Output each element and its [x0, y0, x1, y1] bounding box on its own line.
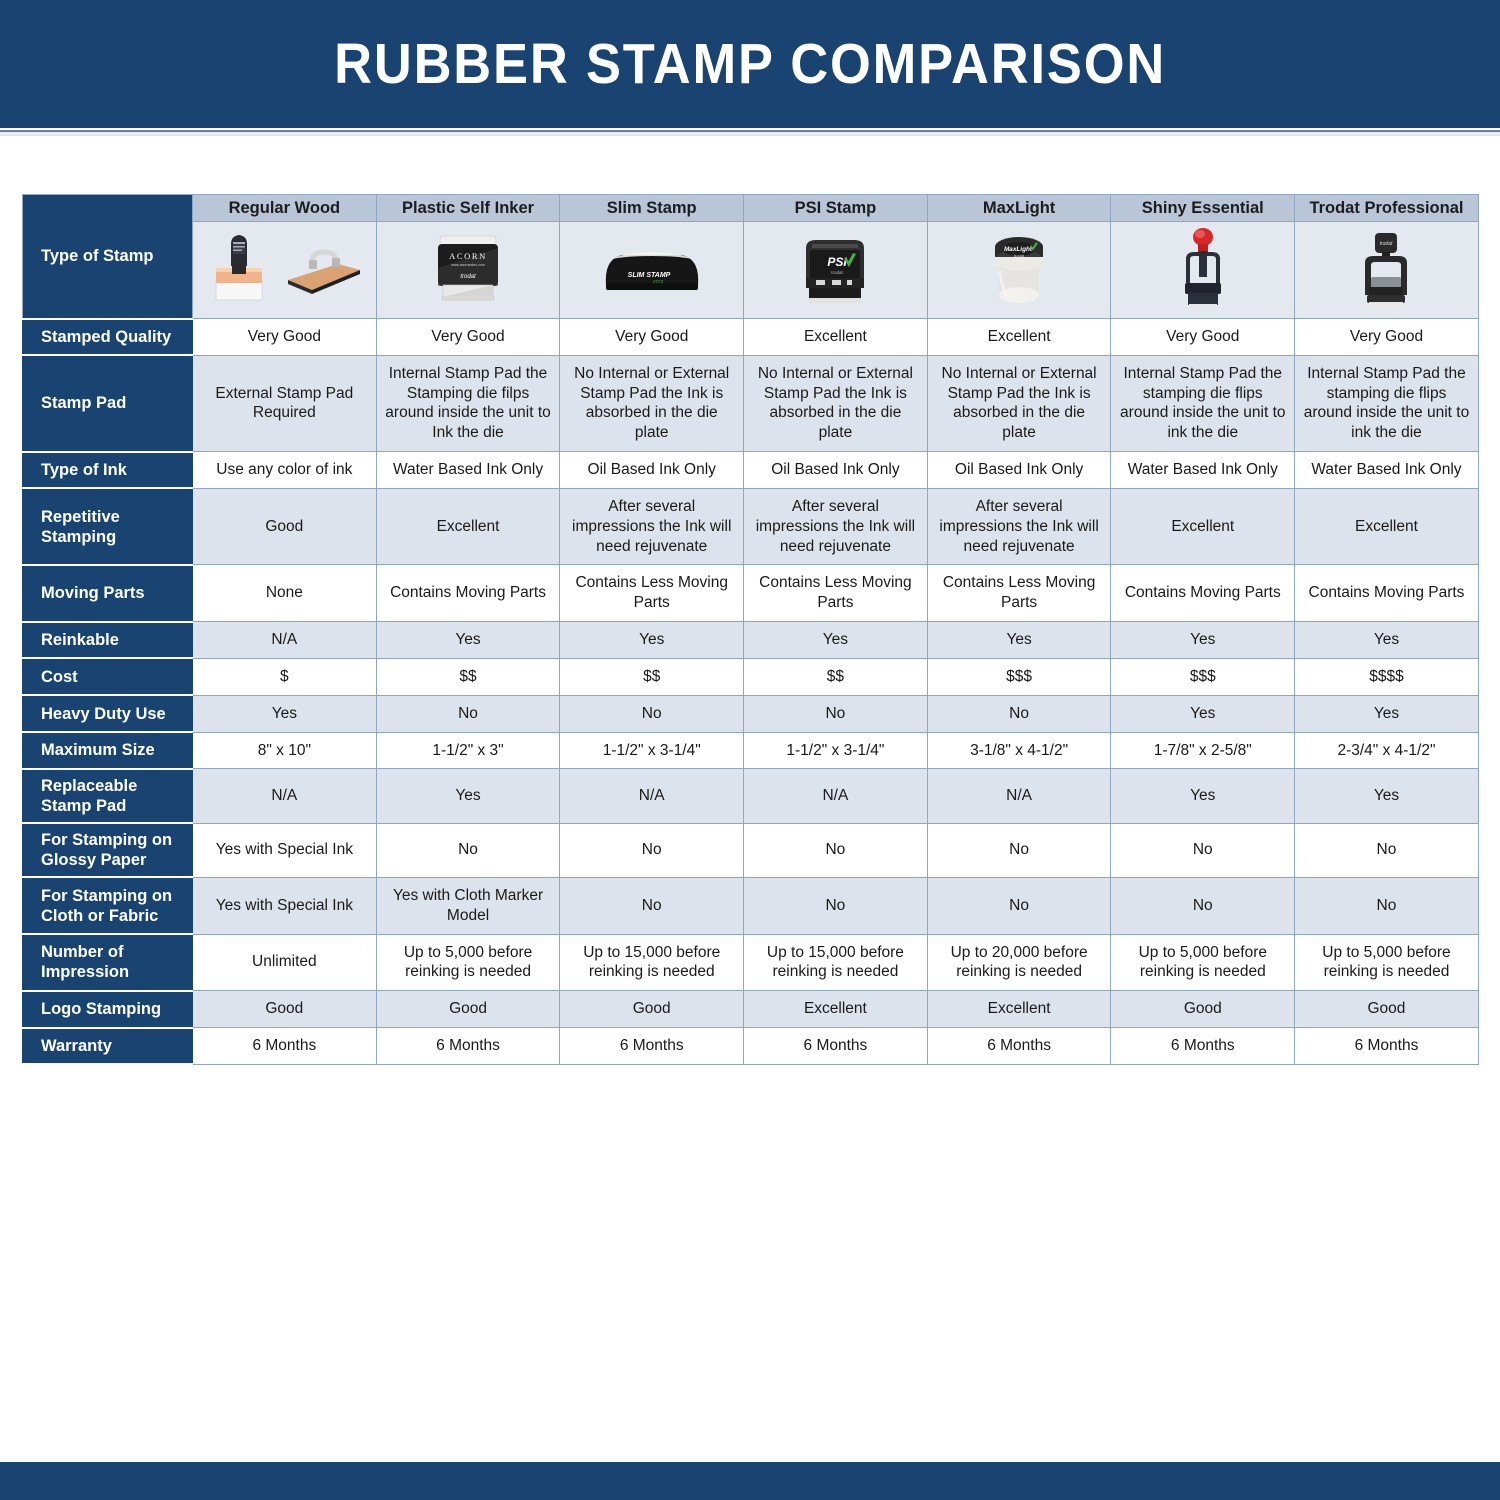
table-cell: Excellent	[376, 488, 560, 564]
row-label: Cost	[23, 658, 193, 695]
column-header-slim-stamp: Slim Stamp	[560, 195, 744, 222]
table-cell: No	[1111, 877, 1295, 934]
footer-divider	[0, 1455, 1500, 1462]
page-footer	[0, 1462, 1500, 1500]
table-row-glossy-paper: For Stamping on Glossy Paper Yes with Sp…	[23, 823, 1479, 877]
table-row-stamped-quality: Stamped Quality Very Good Very Good Very…	[23, 319, 1479, 356]
table-cell: 6 Months	[927, 1028, 1111, 1065]
svg-text:MaxLight: MaxLight	[1004, 246, 1033, 253]
table-cell: Oil Based Ink Only	[927, 452, 1111, 489]
table-row-reinkable: Reinkable N/A Yes Yes Yes Yes Yes Yes	[23, 622, 1479, 659]
table-cell: No	[560, 823, 744, 877]
table-cell: N/A	[193, 622, 377, 659]
table-row-cost: Cost $ $$ $$ $$ $$$ $$$ $$$$	[23, 658, 1479, 695]
table-cell: Good	[1295, 991, 1479, 1028]
table-cell: N/A	[744, 769, 928, 823]
table-cell: $$$	[927, 658, 1111, 695]
row-label: For Stamping on Glossy Paper	[23, 823, 193, 877]
table-cell: Internal Stamp Pad the stamping die flip…	[1295, 355, 1479, 451]
table-cell: Water Based Ink Only	[376, 452, 560, 489]
row-label: Heavy Duty Use	[23, 695, 193, 732]
table-cell: Yes	[376, 769, 560, 823]
table-cell: Good	[376, 991, 560, 1028]
product-image-maxlight: MaxLight trodat	[927, 222, 1111, 319]
table-cell: Yes	[1295, 769, 1479, 823]
table-cell: Up to 20,000 before reinking is needed	[927, 934, 1111, 991]
row-label: Stamped Quality	[23, 319, 193, 356]
table-cell: 6 Months	[376, 1028, 560, 1065]
svg-text:SLIM STAMP: SLIM STAMP	[627, 272, 670, 279]
table-cell: Yes	[376, 622, 560, 659]
table-cell: $	[193, 658, 377, 695]
table-cell: No	[376, 823, 560, 877]
maxlight-stamp-icon: MaxLight trodat	[979, 227, 1059, 313]
table-cell: Up to 15,000 before reinking is needed	[560, 934, 744, 991]
row-label: Stamp Pad	[23, 355, 193, 451]
table-cell: After several impressions the Ink will n…	[560, 488, 744, 564]
table-cell: Good	[193, 488, 377, 564]
column-header-regular-wood: Regular Wood	[193, 195, 377, 222]
svg-text:trodat: trodat	[1380, 241, 1393, 247]
table-row-heavy-duty-use: Heavy Duty Use Yes No No No No Yes Yes	[23, 695, 1479, 732]
table-cell: Good	[193, 991, 377, 1028]
column-header-psi-stamp: PSI Stamp	[744, 195, 928, 222]
trodat-professional-stamp-icon: trodat	[1355, 225, 1417, 315]
table-cell: Yes	[1295, 695, 1479, 732]
table-cell: Yes	[927, 622, 1111, 659]
table-cell: Very Good	[1295, 319, 1479, 356]
row-label: Moving Parts	[23, 565, 193, 622]
table-cell: Contains Less Moving Parts	[744, 565, 928, 622]
table-cell: Yes	[1111, 622, 1295, 659]
table-cell: 6 Months	[1111, 1028, 1295, 1065]
table-cell: 1-7/8" x 2-5/8"	[1111, 732, 1295, 769]
svg-text:ACORN: ACORN	[449, 251, 487, 261]
row-label: Number of Impression	[23, 934, 193, 991]
table-cell: Yes	[744, 622, 928, 659]
table-cell: N/A	[193, 769, 377, 823]
table-cell: 1-1/2" x 3"	[376, 732, 560, 769]
table-cell: Yes	[560, 622, 744, 659]
table-cell: Excellent	[927, 991, 1111, 1028]
table-cell: N/A	[927, 769, 1111, 823]
banner-divider	[0, 128, 1500, 136]
row-label: Reinkable	[23, 622, 193, 659]
table-cell: After several impressions the Ink will n…	[927, 488, 1111, 564]
table-cell: 6 Months	[560, 1028, 744, 1065]
table-cell: 1-1/2" x 3-1/4"	[560, 732, 744, 769]
table-cell: 6 Months	[744, 1028, 928, 1065]
table-cell: External Stamp Pad Required	[193, 355, 377, 451]
table-cell: No	[927, 695, 1111, 732]
product-image-slim-stamp: SLIM STAMP 2773	[560, 222, 744, 319]
table-cell: Excellent	[744, 991, 928, 1028]
row-label: Type of Ink	[23, 452, 193, 489]
row-header-type-of-stamp: Type of Stamp	[23, 195, 193, 319]
table-cell: No Internal or External Stamp Pad the In…	[560, 355, 744, 451]
table-cell: 8" x 10"	[193, 732, 377, 769]
table-cell: Excellent	[1295, 488, 1479, 564]
table-head: Type of Stamp Regular Wood Plastic Self …	[23, 195, 1479, 319]
table-row-cloth-or-fabric: For Stamping on Cloth or Fabric Yes with…	[23, 877, 1479, 934]
svg-text:2773: 2773	[652, 279, 664, 284]
table-cell: No	[560, 877, 744, 934]
table-row-logo-stamping: Logo Stamping Good Good Good Excellent E…	[23, 991, 1479, 1028]
table-cell: No	[927, 823, 1111, 877]
table-cell: Very Good	[193, 319, 377, 356]
table-cell: No Internal or External Stamp Pad the In…	[927, 355, 1111, 451]
product-image-regular-wood	[193, 222, 377, 319]
svg-text:www.acornsales.com: www.acornsales.com	[451, 263, 485, 267]
column-header-maxlight: MaxLight	[927, 195, 1111, 222]
table-cell: No	[1111, 823, 1295, 877]
row-label: For Stamping on Cloth or Fabric	[23, 877, 193, 934]
table-cell: Unlimited	[193, 934, 377, 991]
table-cell: Yes with Special Ink	[193, 877, 377, 934]
product-image-plastic-self-inker: ACORN www.acornsales.com trodat	[376, 222, 560, 319]
table-cell: Yes with Special Ink	[193, 823, 377, 877]
table-cell: Oil Based Ink Only	[744, 452, 928, 489]
column-header-row: Type of Stamp Regular Wood Plastic Self …	[23, 195, 1479, 222]
comparison-infographic: RUBBER STAMP COMPARISON Type of Stamp Re…	[0, 0, 1500, 1500]
table-cell: Good	[1111, 991, 1295, 1028]
table-cell: No	[1295, 823, 1479, 877]
shiny-essential-stamp-icon	[1176, 225, 1230, 315]
row-label: Warranty	[23, 1028, 193, 1065]
table-cell: Up to 15,000 before reinking is needed	[744, 934, 928, 991]
table-cell: Up to 5,000 before reinking is needed	[376, 934, 560, 991]
table-cell: No	[744, 823, 928, 877]
table-cell: No	[744, 695, 928, 732]
table-cell: Contains Less Moving Parts	[560, 565, 744, 622]
table-row-stamp-pad: Stamp Pad External Stamp Pad Required In…	[23, 355, 1479, 451]
table-cell: 6 Months	[193, 1028, 377, 1065]
table-cell: Yes with Cloth Marker Model	[376, 877, 560, 934]
table-cell: $$	[376, 658, 560, 695]
table-cell: After several impressions the Ink will n…	[744, 488, 928, 564]
table-cell: No Internal or External Stamp Pad the In…	[744, 355, 928, 451]
product-image-shiny-essential	[1111, 222, 1295, 319]
table-cell: Contains Moving Parts	[1295, 565, 1479, 622]
column-header-shiny-essential: Shiny Essential	[1111, 195, 1295, 222]
row-label: Repetitive Stamping	[23, 488, 193, 564]
table-cell: Contains Moving Parts	[376, 565, 560, 622]
product-image-trodat-professional: trodat	[1295, 222, 1479, 319]
table-cell: No	[927, 877, 1111, 934]
table-cell: None	[193, 565, 377, 622]
table-cell: Contains Less Moving Parts	[927, 565, 1111, 622]
svg-text:trodat: trodat	[832, 270, 844, 275]
table-cell: No	[744, 877, 928, 934]
table-cell: 1-1/2" x 3-1/4"	[744, 732, 928, 769]
table-row-warranty: Warranty 6 Months 6 Months 6 Months 6 Mo…	[23, 1028, 1479, 1065]
product-image-psi-stamp: PSI trodat	[744, 222, 928, 319]
table-cell: $$$	[1111, 658, 1295, 695]
table-cell: $$	[744, 658, 928, 695]
table-cell: $$$$	[1295, 658, 1479, 695]
table-cell: No	[376, 695, 560, 732]
row-label: Logo Stamping	[23, 991, 193, 1028]
table-row-replaceable-stamp-pad: Replaceable Stamp Pad N/A Yes N/A N/A N/…	[23, 769, 1479, 823]
table-cell: Excellent	[744, 319, 928, 356]
table-cell: Excellent	[927, 319, 1111, 356]
table-row-repetitive-stamping: Repetitive Stamping Good Excellent After…	[23, 488, 1479, 564]
table-cell: Up to 5,000 before reinking is needed	[1295, 934, 1479, 991]
column-header-plastic-self-inker: Plastic Self Inker	[376, 195, 560, 222]
table-cell: Use any color of ink	[193, 452, 377, 489]
table-cell: 6 Months	[1295, 1028, 1479, 1065]
row-label: Maximum Size	[23, 732, 193, 769]
psi-stamp-icon: PSI trodat	[792, 228, 878, 312]
svg-text:PSI: PSI	[828, 255, 848, 269]
table-cell: Water Based Ink Only	[1295, 452, 1479, 489]
table-cell: N/A	[560, 769, 744, 823]
slim-stamp-icon: SLIM STAMP 2773	[596, 243, 708, 297]
table-row-number-of-impression: Number of Impression Unlimited Up to 5,0…	[23, 934, 1479, 991]
table-cell: Yes	[1111, 769, 1295, 823]
table-cell: No	[560, 695, 744, 732]
table-row-type-of-ink: Type of Ink Use any color of ink Water B…	[23, 452, 1479, 489]
column-header-trodat-professional: Trodat Professional	[1295, 195, 1479, 222]
table-cell: Very Good	[376, 319, 560, 356]
table-cell: Very Good	[560, 319, 744, 356]
table-cell: Good	[560, 991, 744, 1028]
table-cell: Contains Moving Parts	[1111, 565, 1295, 622]
page-banner: RUBBER STAMP COMPARISON	[0, 0, 1500, 128]
table-cell: Yes	[1295, 622, 1479, 659]
table-cell: Excellent	[1111, 488, 1295, 564]
comparison-table-container: Type of Stamp Regular Wood Plastic Self …	[22, 194, 1478, 1065]
table-cell: Very Good	[1111, 319, 1295, 356]
table-row-maximum-size: Maximum Size 8" x 10" 1-1/2" x 3" 1-1/2"…	[23, 732, 1479, 769]
table-cell: No	[1295, 877, 1479, 934]
table-row-moving-parts: Moving Parts None Contains Moving Parts …	[23, 565, 1479, 622]
table-cell: Internal Stamp Pad the Stamping die filp…	[376, 355, 560, 451]
table-cell: Internal Stamp Pad the stamping die flip…	[1111, 355, 1295, 451]
wood-stamp-icon	[204, 230, 274, 310]
table-cell: Yes	[1111, 695, 1295, 732]
table-cell: Water Based Ink Only	[1111, 452, 1295, 489]
table-body: Stamped Quality Very Good Very Good Very…	[23, 319, 1479, 1065]
wood-handle-stamp-icon	[282, 240, 364, 300]
table-cell: $$	[560, 658, 744, 695]
plastic-self-inker-icon: ACORN www.acornsales.com trodat	[426, 228, 510, 312]
page-title: RUBBER STAMP COMPARISON	[334, 31, 1166, 97]
svg-text:trodat: trodat	[460, 274, 476, 280]
product-image-row: ACORN www.acornsales.com trodat	[23, 222, 1479, 319]
table-cell: Up to 5,000 before reinking is needed	[1111, 934, 1295, 991]
table-cell: 3-1/8" x 4-1/2"	[927, 732, 1111, 769]
table-cell: Oil Based Ink Only	[560, 452, 744, 489]
row-label: Replaceable Stamp Pad	[23, 769, 193, 823]
comparison-table: Type of Stamp Regular Wood Plastic Self …	[22, 194, 1479, 1065]
table-cell: 2-3/4" x 4-1/2"	[1295, 732, 1479, 769]
table-cell: Yes	[193, 695, 377, 732]
